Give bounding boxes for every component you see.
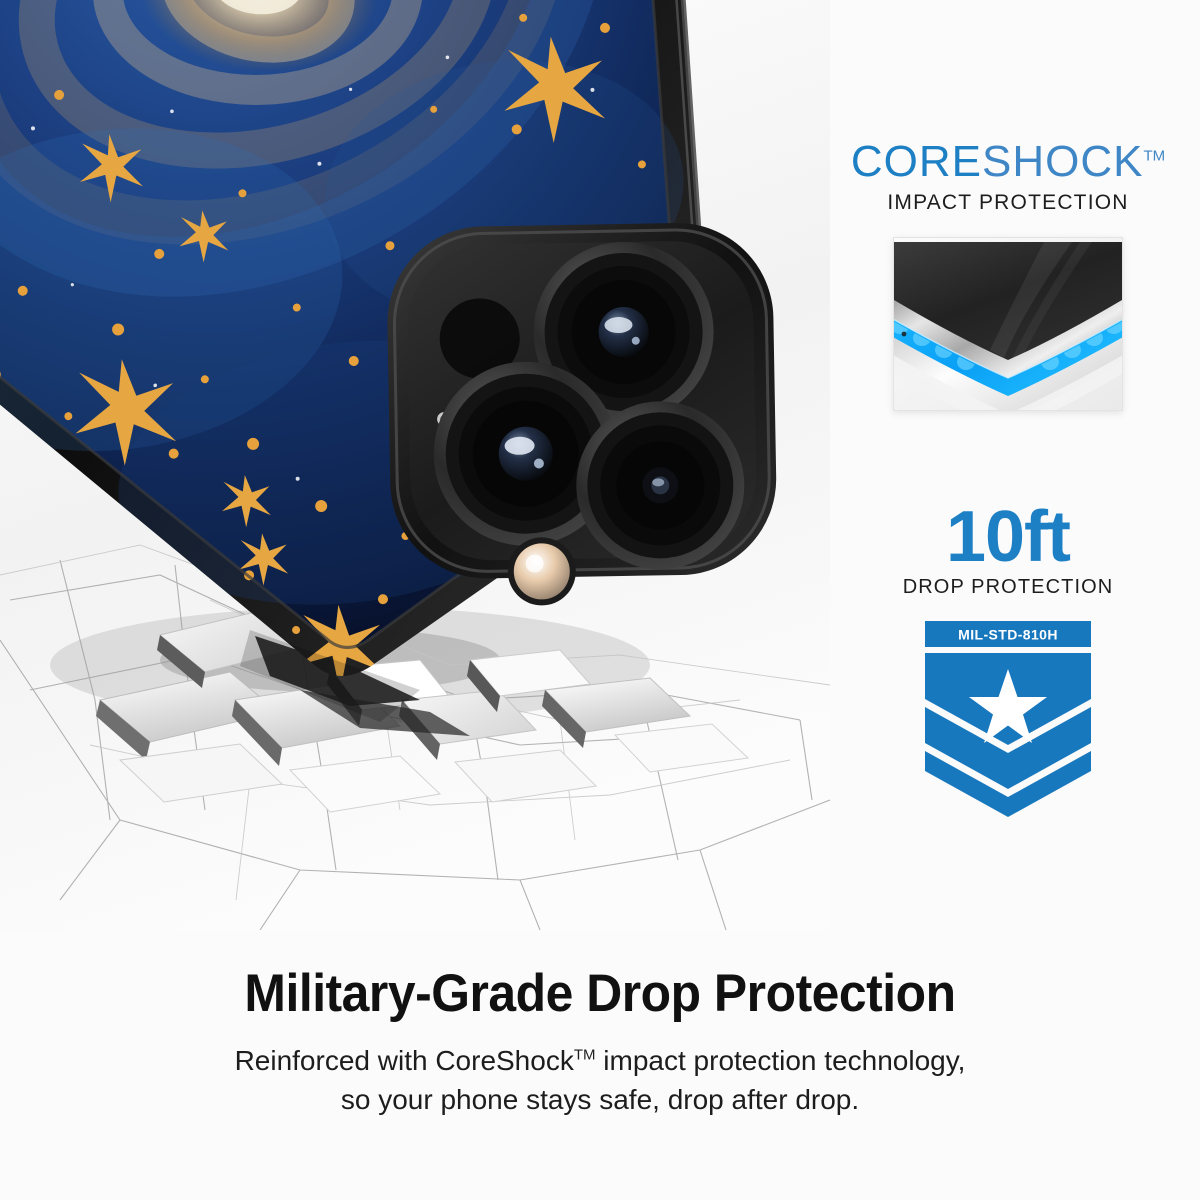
- cushion-layer-diagram: [894, 238, 1122, 410]
- badge-standard-text: MIL-STD-810H: [958, 627, 1058, 643]
- headline: Military-Grade Drop Protection: [36, 965, 1164, 1022]
- hero-product-photo: [0, 0, 830, 930]
- mil-std-810h-badge: MIL-STD-810H: [915, 621, 1101, 817]
- drop-height-value: 10ft: [838, 503, 1178, 571]
- subcopy: Reinforced with CoreShockTM impact prote…: [0, 1042, 1200, 1119]
- marketing-copy: Military-Grade Drop Protection Reinforce…: [0, 965, 1200, 1119]
- coreshock-logo: CORESHOCKTM: [838, 140, 1178, 184]
- logo-shock-text: SHOCK: [982, 137, 1143, 186]
- impact-protection-cross-section: [893, 237, 1123, 411]
- coreshock-brand-block: CORESHOCKTM IMPACT PROTECTION: [838, 140, 1178, 215]
- drop-protection-block: 10ft DROP PROTECTION: [838, 503, 1178, 599]
- subcopy-line2: so your phone stays safe, drop after dro…: [341, 1084, 859, 1115]
- product-marketing-image: CORESHOCKTM IMPACT PROTECTION: [0, 0, 1200, 1200]
- camera-module: [386, 221, 779, 608]
- drop-protection-label: DROP PROTECTION: [838, 576, 1178, 599]
- trademark-symbol: TM: [1143, 147, 1165, 164]
- feature-column: CORESHOCKTM IMPACT PROTECTION: [838, 140, 1178, 817]
- logo-core-text: CORE: [851, 137, 982, 186]
- brand-tagline: IMPACT PROTECTION: [838, 191, 1178, 215]
- subcopy-line1-a: Reinforced with CoreShock: [235, 1045, 574, 1076]
- phone-on-cracked-surface-illustration: [0, 0, 830, 930]
- subcopy-line1-b: impact protection technology,: [596, 1045, 966, 1076]
- subcopy-trademark: TM: [574, 1047, 596, 1064]
